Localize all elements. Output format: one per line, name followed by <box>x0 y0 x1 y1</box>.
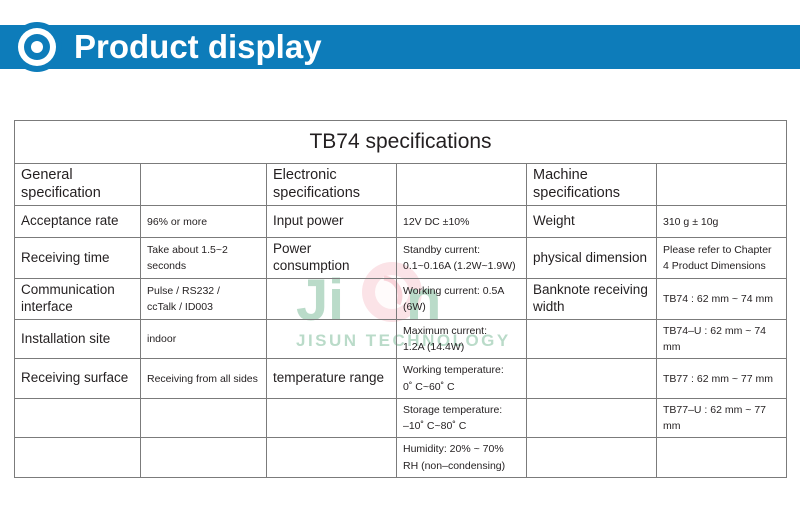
row-label <box>15 438 141 478</box>
row-value: TB77 : 62 mm ~ 77 mm <box>657 359 787 399</box>
table-row: Communication interface Pulse / RS232 /c… <box>15 279 787 320</box>
page-title: Product display <box>74 25 322 69</box>
table-row: Storage temperature:–10˚ C~80˚ C TB77–U … <box>15 398 787 438</box>
row-label: Receiving time <box>15 238 141 279</box>
row-value: TB77–U : 62 mm ~ 77 mm <box>657 398 787 438</box>
row-label: Installation site <box>15 319 141 359</box>
row-label: Acceptance rate <box>15 206 141 238</box>
row-value: Please refer to Chapter4 Product Dimensi… <box>657 238 787 279</box>
table-header-cell: General specification <box>15 164 141 206</box>
table-row: Humidity: 20% ~ 70%RH (non–condensing) <box>15 438 787 478</box>
row-label <box>527 319 657 359</box>
target-circle-icon <box>12 22 62 72</box>
row-label <box>267 438 397 478</box>
row-value <box>141 438 267 478</box>
row-value: TB74–U : 62 mm ~ 74 mm <box>657 319 787 359</box>
row-value: Receiving from all sides <box>141 359 267 399</box>
row-value: 96% or more <box>141 206 267 238</box>
table-title-suffix: specifications <box>366 130 492 153</box>
table-title-cell: TB74 specifications <box>15 121 787 164</box>
row-label: temperature range <box>267 359 397 399</box>
row-value <box>141 398 267 438</box>
table-row: Receiving time Take about 1.5~2 seconds … <box>15 238 787 279</box>
row-label: Weight <box>527 206 657 238</box>
row-value: indoor <box>141 319 267 359</box>
row-value: 12V DC ±10% <box>397 206 527 238</box>
row-label <box>267 279 397 320</box>
table-header-row: General specification Electronic specifi… <box>15 164 787 206</box>
table-row: Acceptance rate 96% or more Input power … <box>15 206 787 238</box>
row-value: Humidity: 20% ~ 70%RH (non–condensing) <box>397 438 527 478</box>
table-header-cell <box>657 164 787 206</box>
row-label: Communication interface <box>15 279 141 320</box>
row-value: Pulse / RS232 /ccTalk / ID003 <box>141 279 267 320</box>
row-label: Power consumption <box>267 238 397 279</box>
table-header-cell <box>397 164 527 206</box>
table-row: Receiving surface Receiving from all sid… <box>15 359 787 399</box>
row-label <box>527 398 657 438</box>
row-value: Maximum current:1.2A (14.4W) <box>397 319 527 359</box>
specifications-table: TB74 specifications General specificatio… <box>14 120 787 478</box>
row-label: Input power <box>267 206 397 238</box>
row-label: Banknote receiving width <box>527 279 657 320</box>
table-header-cell: Electronic specifications <box>267 164 397 206</box>
row-value: Standby current:0.1~0.16A (1.2W~1.9W) <box>397 238 527 279</box>
row-label <box>527 359 657 399</box>
row-label <box>15 398 141 438</box>
row-value: TB74 : 62 mm ~ 74 mm <box>657 279 787 320</box>
row-label <box>527 438 657 478</box>
row-label <box>267 319 397 359</box>
row-value: Working current: 0.5A (6W) <box>397 279 527 320</box>
row-value: 310 g ± 10g <box>657 206 787 238</box>
table-title-row: TB74 specifications <box>15 121 787 164</box>
specifications-table-container: TB74 specifications General specificatio… <box>14 120 786 478</box>
row-value: Take about 1.5~2 seconds <box>141 238 267 279</box>
row-value: Storage temperature:–10˚ C~80˚ C <box>397 398 527 438</box>
row-label: physical dimension <box>527 238 657 279</box>
row-label <box>267 398 397 438</box>
table-header-cell <box>141 164 267 206</box>
row-label: Receiving surface <box>15 359 141 399</box>
table-title-model: TB74 <box>309 130 359 153</box>
logo-center-dot <box>31 41 43 53</box>
row-value <box>657 438 787 478</box>
table-header-cell: Machine specifications <box>527 164 657 206</box>
table-row: Installation site indoor Maximum current… <box>15 319 787 359</box>
row-value: Working temperature:0˚ C~60˚ C <box>397 359 527 399</box>
